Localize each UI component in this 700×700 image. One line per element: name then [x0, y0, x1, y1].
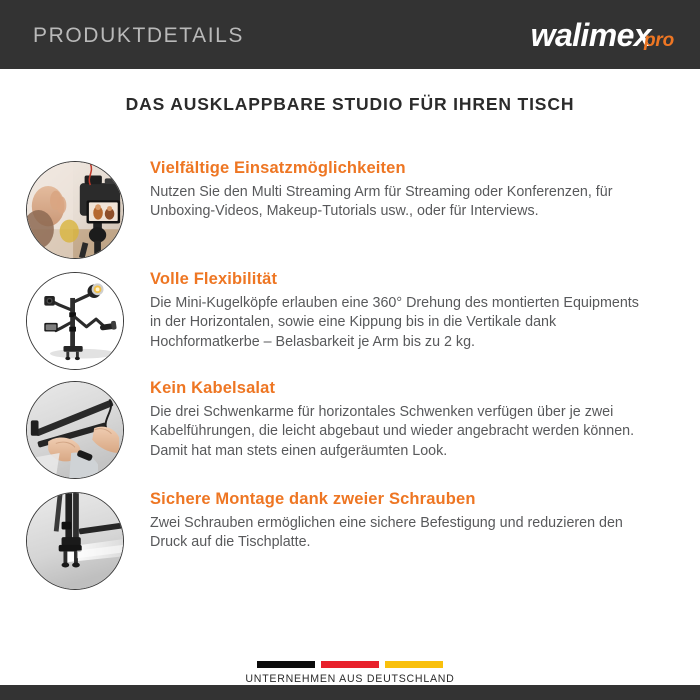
feature-text: Volle Flexibilität Die Mini-Kugelköpfe e… [150, 270, 700, 352]
table-clamp-screws-photo [26, 492, 124, 590]
feature-item: Vielfältige Einsatzmöglichkeiten Nutzen … [0, 159, 700, 259]
german-flag-icon [257, 661, 443, 668]
feature-text: Kein Kabelsalat Die drei Schwenkarme für… [150, 379, 700, 461]
main-heading: DAS AUSKLAPPBARE STUDIO FÜR IHREN TISCH [0, 94, 700, 115]
bottom-bar [0, 685, 700, 700]
feature-thumb-wrap [0, 379, 150, 479]
cable-guide-hands-photo [26, 381, 124, 479]
flag-bar-red [321, 661, 379, 668]
feature-text: Sichere Montage dank zweier Schrauben Zw… [150, 490, 700, 553]
feature-title: Vielfältige Einsatzmöglichkeiten [150, 159, 642, 178]
feature-item: Sichere Montage dank zweier Schrauben Zw… [0, 490, 700, 590]
feature-title: Sichere Montage dank zweier Schrauben [150, 490, 642, 509]
header-bar: PRODUKTDETAILS walimex pro [0, 0, 700, 69]
multi-arm-stand-photo [26, 272, 124, 370]
page-title: PRODUKTDETAILS [33, 25, 244, 46]
flag-bar-gold [385, 661, 443, 668]
product-details-page: PRODUKTDETAILS walimex pro DAS AUSKLAPPB… [0, 0, 700, 700]
feature-title: Kein Kabelsalat [150, 379, 642, 398]
feature-body: Die drei Schwenkarme für horizontales Sc… [150, 403, 642, 461]
flag-bar-black [257, 661, 315, 668]
feature-thumb-wrap [0, 490, 150, 590]
feature-thumb-wrap [0, 159, 150, 259]
feature-item: Kein Kabelsalat Die drei Schwenkarme für… [0, 379, 700, 479]
footer-text: UNTERNEHMEN AUS DEUTSCHLAND [245, 673, 454, 685]
walimex-pro-logo: walimex pro [531, 19, 674, 51]
feature-body: Die Mini-Kugelköpfe erlauben eine 360° D… [150, 294, 642, 352]
feature-body: Zwei Schrauben ermöglichen eine sichere … [150, 514, 642, 553]
camera-streaming-setup-photo [26, 161, 124, 259]
brand-name: walimex [531, 19, 651, 51]
feature-list: Vielfältige Einsatzmöglichkeiten Nutzen … [0, 159, 700, 590]
feature-thumb-wrap [0, 270, 150, 370]
feature-item: Volle Flexibilität Die Mini-Kugelköpfe e… [0, 270, 700, 370]
brand-suffix: pro [644, 31, 674, 50]
feature-body: Nutzen Sie den Multi Streaming Arm für S… [150, 183, 642, 222]
feature-title: Volle Flexibilität [150, 270, 642, 289]
footer: UNTERNEHMEN AUS DEUTSCHLAND [0, 661, 700, 685]
feature-text: Vielfältige Einsatzmöglichkeiten Nutzen … [150, 159, 700, 222]
